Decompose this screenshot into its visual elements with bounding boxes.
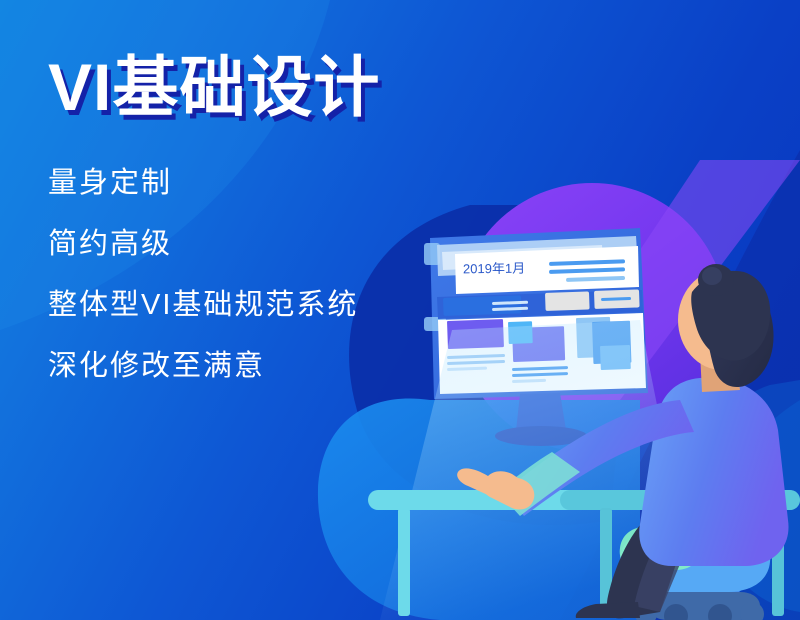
feature-list: 量身定制 简约高级 整体型VI基础规范系统 深化修改至满意 — [48, 169, 468, 381]
light-blue-blob — [318, 398, 640, 620]
screen-date-field-text: 2019年1月 — [463, 258, 525, 278]
feature-item-2: 简约高级 — [48, 230, 468, 259]
text-column: VI基础设计 量身定制 简约高级 整体型VI基础规范系统 深化修改至满意 — [48, 52, 468, 381]
feature-item-3: 整体型VI基础规范系统 — [48, 291, 468, 320]
page-title: VI基础设计 — [48, 52, 468, 123]
feature-item-4: 深化修改至满意 — [48, 352, 468, 381]
feature-item-1: 量身定制 — [48, 169, 468, 198]
vi-design-promo-banner: VI基础设计 量身定制 简约高级 整体型VI基础规范系统 深化修改至满意 — [0, 0, 800, 620]
